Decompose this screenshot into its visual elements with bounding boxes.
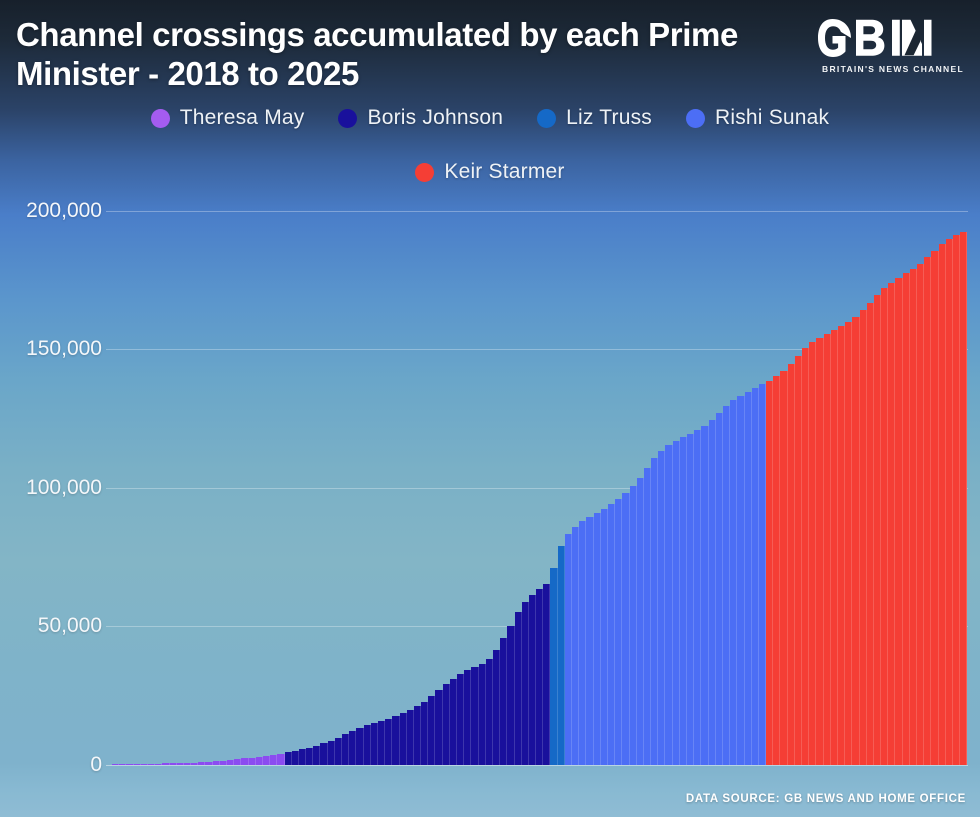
bar [795,356,802,765]
legend-label: Rishi Sunak [715,106,829,130]
bar [852,317,859,765]
bar [586,517,593,765]
bar [824,334,831,765]
bar [752,388,759,765]
bar [903,273,910,765]
bar [536,589,543,765]
legend-color-dot [338,109,357,128]
bar [939,244,946,765]
bar [471,667,478,765]
bar [428,696,435,765]
bar [558,546,565,765]
bar [701,426,708,765]
bar [953,235,960,765]
bar [895,278,902,765]
bar [213,761,220,765]
bar [184,763,191,765]
bar [637,478,644,765]
bar [809,342,816,765]
bar [723,406,730,765]
bar [378,721,385,765]
bar [665,445,672,765]
bar [680,437,687,765]
bar [464,670,471,765]
legend-item-liz-truss[interactable]: Liz Truss [537,106,652,130]
page-title: Channel crossings accumulated by each Pr… [16,16,776,94]
bar [407,710,414,765]
legend-label: Theresa May [180,106,305,130]
bar [946,239,953,765]
legend-color-dot [415,163,434,182]
legend-item-boris-johnson[interactable]: Boris Johnson [338,106,503,130]
bar [435,690,442,765]
bar [608,504,615,765]
infographic-root: Channel crossings accumulated by each Pr… [0,0,980,817]
bar [234,759,241,765]
bar [162,763,169,765]
bar [881,288,888,765]
bar [522,602,529,765]
bar [277,754,284,765]
bar [507,626,514,765]
gb-news-logo-mark [818,14,968,62]
bar [924,257,931,765]
legend-row-secondary: Keir Starmer [0,160,980,184]
bar [205,762,212,765]
bar [860,310,867,765]
legend-color-dot [686,109,705,128]
bar [299,749,306,765]
bar [838,326,845,765]
bar-series [112,205,968,765]
y-axis-tick-label: 200,000 [26,199,102,223]
bar [766,381,773,766]
bar [320,743,327,765]
bar [644,468,651,765]
bar [270,755,277,765]
bar [651,458,658,765]
y-axis-tick-label: 0 [90,753,102,777]
bar [479,664,486,765]
bar [356,728,363,765]
bar [385,719,392,765]
bar [148,764,155,765]
bar [119,764,126,765]
gridline [106,765,968,766]
gb-news-logo: BRITAIN'S NEWS CHANNEL [818,14,968,74]
bar [515,612,522,765]
y-axis-tick-label: 150,000 [26,337,102,361]
bar [572,527,579,765]
y-axis-tick-label: 50,000 [38,614,102,638]
bar [364,725,371,765]
bar [249,758,256,765]
bar [687,434,694,765]
chart-plot-area: 200,000150,000100,00050,0000 [112,205,968,765]
bar [486,659,493,765]
bar [737,396,744,765]
bar [917,264,924,766]
bar [220,761,227,765]
bar [759,384,766,765]
bar [615,499,622,765]
legend-color-dot [537,109,556,128]
bar [730,400,737,765]
legend-row-primary: Theresa MayBoris JohnsonLiz TrussRishi S… [0,106,980,130]
bar [802,348,809,765]
bar [349,731,356,765]
legend-item-rishi-sunak[interactable]: Rishi Sunak [686,106,829,130]
bar [831,330,838,765]
bar [134,764,141,765]
bar [594,513,601,765]
bar [155,764,162,765]
bar [126,764,133,765]
bar [816,338,823,765]
bar [198,762,205,765]
bar [335,738,342,765]
bar [716,413,723,765]
bar [500,638,507,765]
bar [874,295,881,765]
bar [421,702,428,765]
bar [443,684,450,765]
bar [630,486,637,765]
bar [709,420,716,765]
bar [780,371,787,765]
bar [960,232,967,765]
bar [170,763,177,765]
bar [773,376,780,765]
legend-item-keir-starmer[interactable]: Keir Starmer [415,160,564,184]
bar [745,392,752,765]
bar [601,509,608,765]
data-source-note: DATA SOURCE: GB NEWS AND HOME OFFICE [686,793,966,805]
bar [328,741,335,765]
bar [910,269,917,765]
legend-label: Liz Truss [566,106,652,130]
bar [263,756,270,765]
bar [342,734,349,765]
bar [400,713,407,765]
bar [543,584,550,765]
bar [565,534,572,765]
bar [392,716,399,765]
bar [414,706,421,765]
bar [888,283,895,765]
bar [788,364,795,765]
bar [931,251,938,765]
bar [673,441,680,765]
legend-label: Boris Johnson [367,106,503,130]
bar [529,595,536,765]
bar [550,568,557,765]
bar [579,521,586,765]
bar [177,763,184,765]
bar [371,723,378,765]
gb-news-logo-tagline: BRITAIN'S NEWS CHANNEL [818,64,968,74]
bar [191,763,198,765]
bar [450,679,457,765]
bar [867,303,874,765]
legend-label: Keir Starmer [444,160,564,184]
bar [845,322,852,765]
bar [227,760,234,765]
bar [457,674,464,765]
bar [241,758,248,765]
bar [313,746,320,765]
bar [658,451,665,765]
bar [694,430,701,765]
bar [141,764,148,765]
bar [493,650,500,765]
bar [112,764,119,765]
bar [256,757,263,765]
bar [622,493,629,765]
legend-color-dot [151,109,170,128]
bar [292,751,299,765]
legend-item-theresa-may[interactable]: Theresa May [151,106,305,130]
y-axis-tick-label: 100,000 [26,476,102,500]
bar [306,748,313,765]
bar [285,752,292,765]
